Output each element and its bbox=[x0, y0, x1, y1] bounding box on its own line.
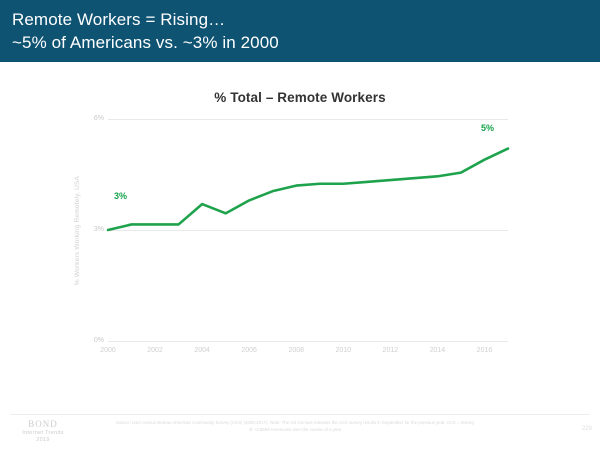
chart-title: % Total – Remote Workers bbox=[0, 90, 600, 105]
bond-logo: BOND Internet Trends 2019 bbox=[8, 419, 78, 443]
slide-header: Remote Workers = Rising… ~5% of American… bbox=[0, 0, 600, 62]
bond-logo-name: BOND bbox=[8, 419, 78, 429]
footer-divider bbox=[10, 414, 590, 415]
y-axis-tick-label: 0% bbox=[64, 337, 104, 344]
slide-body: % Total – Remote Workers % Workers Worki… bbox=[0, 62, 600, 414]
start-value-label: 3% bbox=[114, 191, 127, 201]
bond-logo-year: 2019 bbox=[8, 437, 78, 443]
x-axis-tick-label: 2002 bbox=[135, 347, 175, 354]
y-axis-tick-label: 6% bbox=[64, 115, 104, 122]
slide-footer: BOND Internet Trends 2019 Source: USA ce… bbox=[0, 414, 600, 450]
header-title-line-1: Remote Workers = Rising… bbox=[12, 8, 600, 31]
x-axis-tick-label: 2006 bbox=[229, 347, 269, 354]
x-axis-tick-label: 2012 bbox=[370, 347, 410, 354]
bond-logo-subtitle: Internet Trends bbox=[8, 430, 78, 436]
header-title-line-2: ~5% of Americans vs. ~3% in 2000 bbox=[12, 31, 600, 54]
source-note: Source: USA census Bureau American Commu… bbox=[115, 420, 475, 433]
gridline bbox=[108, 341, 508, 342]
y-axis-tick-label: 3% bbox=[64, 226, 104, 233]
chart-plot-area: 6%3%0% 200020022004200620082010201220142… bbox=[108, 119, 508, 341]
x-axis-tick-label: 2008 bbox=[276, 347, 316, 354]
x-axis-tick-label: 2000 bbox=[88, 347, 128, 354]
x-axis-tick-label: 2014 bbox=[417, 347, 457, 354]
x-axis-tick-label: 2004 bbox=[182, 347, 222, 354]
remote-workers-line-series bbox=[108, 119, 508, 341]
x-axis-tick-label: 2016 bbox=[464, 347, 504, 354]
page-number: 229 bbox=[582, 426, 592, 432]
end-value-label: 5% bbox=[481, 123, 494, 133]
x-axis-tick-label: 2010 bbox=[323, 347, 363, 354]
